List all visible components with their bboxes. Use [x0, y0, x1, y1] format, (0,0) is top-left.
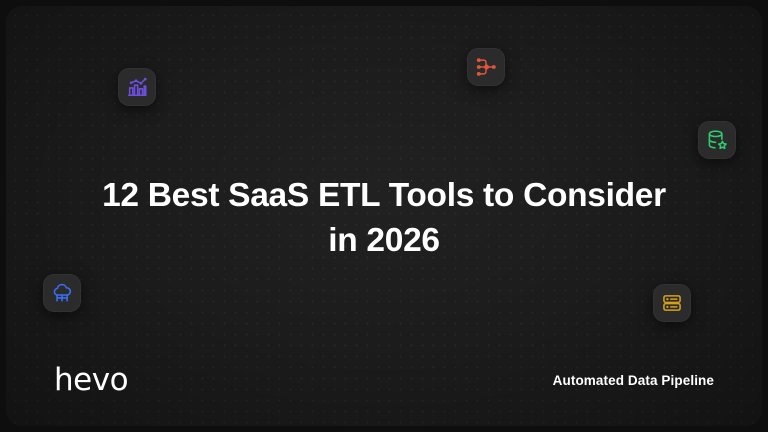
database-star-card	[698, 121, 736, 159]
cover-footer: hevo Automated Data Pipeline	[6, 365, 762, 396]
hevo-logo: hevo	[54, 365, 128, 396]
analytics-chart-card	[118, 68, 156, 106]
server-stack-card	[653, 284, 691, 322]
database-star-icon	[706, 129, 728, 151]
cloud-network-card	[43, 274, 81, 312]
brand-tagline: Automated Data Pipeline	[553, 374, 714, 388]
cloud-network-icon	[51, 282, 73, 304]
server-stack-icon	[661, 292, 683, 314]
analytics-chart-icon	[126, 76, 148, 98]
blog-cover-image: 12 Best SaaS ETL Tools to Consider in 20…	[0, 0, 768, 432]
node-graph-icon	[475, 56, 497, 78]
cover-canvas: 12 Best SaaS ETL Tools to Consider in 20…	[6, 6, 762, 426]
node-graph-card	[467, 48, 505, 86]
page-title: 12 Best SaaS ETL Tools to Consider in 20…	[6, 174, 762, 263]
